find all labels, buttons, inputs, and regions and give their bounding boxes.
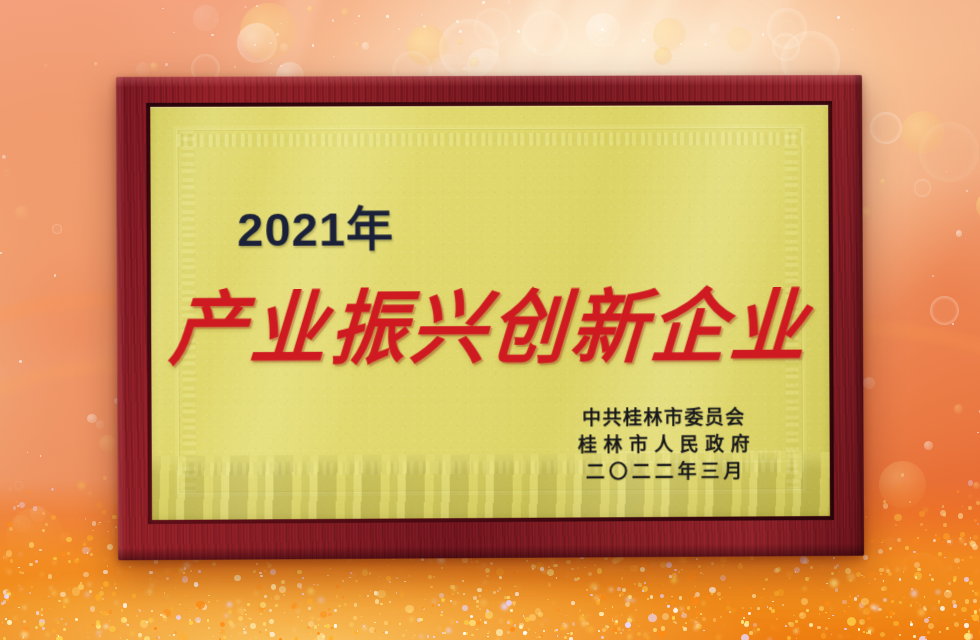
glitter-dot [218, 620, 219, 621]
glitter-dot [713, 618, 717, 622]
glitter-dot [910, 621, 911, 622]
glitter-dot [528, 628, 530, 630]
glitter-dot [719, 598, 721, 600]
glitter-dot [840, 636, 841, 637]
sparkle-dot [40, 455, 42, 457]
sparkle-dot [211, 34, 213, 36]
glitter-dot [9, 488, 11, 490]
glitter-dot [53, 561, 56, 564]
glitter-dot [496, 568, 504, 576]
glitter-dot [557, 609, 560, 612]
glitter-dot [798, 574, 799, 575]
glitter-dot [169, 563, 170, 564]
glitter-dot [704, 594, 711, 601]
glitter-dot [809, 577, 810, 578]
glitter-dot [148, 618, 153, 623]
glitter-dot [80, 582, 82, 584]
glitter-dot [321, 581, 323, 583]
glitter-dot [290, 620, 291, 621]
glitter-dot [942, 505, 945, 508]
glitter-dot [799, 612, 806, 619]
glitter-dot [109, 620, 110, 621]
glitter-dot [628, 635, 631, 638]
glitter-dot [517, 571, 518, 572]
glitter-dot [148, 589, 152, 593]
glitter-dot [720, 556, 727, 563]
glitter-dot [441, 611, 443, 613]
sparkle-dot [276, 33, 279, 36]
plate-content: 2021年 产业振兴创新企业 中共桂林市委员会 桂林市人民政府 二〇二二年三月 [150, 105, 830, 520]
glitter-dot [97, 503, 102, 508]
glitter-dot [369, 572, 371, 574]
glitter-dot [456, 621, 458, 623]
glitter-dot [223, 636, 226, 639]
glitter-dot [318, 597, 324, 603]
glitter-dot [587, 626, 594, 633]
glitter-dot [903, 560, 909, 566]
glitter-dot [359, 595, 360, 596]
glitter-dot [127, 624, 129, 626]
glitter-dot [433, 576, 435, 578]
glitter-dot [555, 564, 558, 567]
glitter-dot [911, 588, 913, 590]
glitter-dot [446, 628, 451, 633]
glitter-dot [52, 488, 53, 489]
glitter-dot [644, 633, 647, 636]
glitter-dot [198, 570, 201, 573]
glitter-dot [7, 620, 12, 625]
glitter-dot [871, 605, 874, 608]
glitter-dot [471, 561, 473, 563]
glitter-dot [795, 620, 797, 622]
gold-plate: 2021年 产业振兴创新企业 中共桂林市委员会 桂林市人民政府 二〇二二年三月 [150, 105, 830, 520]
glitter-dot [671, 596, 672, 597]
glitter-dot [354, 603, 357, 606]
glitter-dot [244, 609, 245, 610]
glitter-dot [101, 587, 103, 589]
sparkle-dot [642, 39, 645, 42]
glitter-dot [234, 598, 236, 600]
glitter-dot [41, 608, 44, 611]
glitter-dot [830, 608, 831, 609]
glitter-dot [29, 592, 31, 594]
glitter-dot [114, 583, 116, 585]
glitter-dot [485, 568, 490, 573]
glitter-dot [4, 594, 9, 599]
glitter-dot [587, 615, 589, 617]
glitter-dot [741, 634, 749, 640]
glitter-dot [847, 573, 855, 581]
glitter-dot [696, 558, 698, 560]
glitter-dot [265, 629, 267, 631]
sparkle-dot [173, 32, 174, 33]
glitter-dot [527, 632, 528, 633]
glitter-dot [928, 623, 934, 629]
sparkle-dot [541, 7, 542, 8]
glitter-dot [318, 624, 319, 625]
glitter-dot [851, 599, 853, 601]
glitter-dot [85, 592, 90, 597]
glitter-dot [579, 609, 581, 611]
glitter-dot [107, 531, 108, 532]
glitter-dot [716, 559, 718, 561]
glitter-dot [297, 616, 298, 617]
glitter-dot [92, 624, 94, 626]
glitter-dot [194, 582, 198, 586]
glitter-dot [690, 619, 691, 620]
glitter-dot [396, 577, 397, 578]
glitter-dot [517, 636, 518, 637]
glitter-dot [311, 617, 313, 619]
glitter-dot [227, 602, 232, 607]
glitter-dot [33, 506, 37, 510]
glitter-dot [628, 595, 632, 599]
glitter-dot [694, 595, 697, 598]
glitter-dot [961, 607, 966, 612]
glitter-dot [567, 575, 569, 577]
glitter-dot [273, 629, 276, 632]
glitter-dot [174, 631, 177, 634]
glitter-dot [669, 635, 670, 636]
glitter-dot [978, 620, 979, 621]
glitter-dot [577, 560, 578, 561]
glitter-dot [916, 602, 917, 603]
glitter-dot [269, 609, 272, 612]
glitter-dot [969, 581, 973, 585]
glitter-dot [935, 536, 941, 542]
glitter-dot [869, 571, 875, 577]
glitter-dot [314, 625, 317, 628]
glitter-dot [424, 599, 425, 600]
glitter-dot [17, 554, 19, 556]
glitter-dot [628, 629, 631, 632]
glitter-dot [45, 523, 47, 525]
glitter-dot [331, 627, 332, 628]
glitter-dot [49, 608, 50, 609]
glitter-dot [637, 632, 641, 636]
glitter-dot [882, 612, 883, 613]
glitter-dot [185, 609, 186, 610]
glitter-dot [631, 608, 634, 611]
glitter-dot [107, 544, 113, 550]
glitter-dot [394, 611, 395, 612]
glitter-dot [899, 628, 900, 629]
glitter-dot [702, 602, 705, 605]
glitter-dot [543, 630, 544, 631]
glitter-dot [944, 590, 952, 598]
award-plaque-scene: 2021年 产业振兴创新企业 中共桂林市委员会 桂林市人民政府 二〇二二年三月 [0, 0, 980, 640]
glitter-dot [898, 615, 900, 617]
glitter-dot [234, 575, 240, 581]
glitter-dot [696, 617, 697, 618]
glitter-dot [675, 622, 677, 624]
glitter-dot [844, 628, 847, 631]
glitter-dot [917, 568, 921, 572]
glitter-dot [61, 618, 63, 620]
glitter-dot [462, 605, 467, 610]
glitter-dot [964, 619, 966, 621]
glitter-dot [476, 605, 479, 608]
glitter-dot [434, 562, 437, 565]
glitter-dot [644, 582, 646, 584]
glitter-dot [939, 631, 941, 633]
glitter-dot [442, 632, 444, 634]
glitter-dot [571, 601, 575, 605]
glitter-dot [266, 633, 270, 637]
glitter-dot [777, 589, 783, 595]
glitter-dot [896, 568, 899, 571]
glitter-dot [510, 609, 513, 612]
glitter-dot [666, 602, 667, 603]
glitter-dot [19, 553, 22, 556]
glitter-dot [606, 637, 607, 638]
glitter-dot [390, 622, 391, 623]
glitter-dot [46, 633, 49, 636]
glitter-dot [598, 630, 600, 632]
glitter-dot [928, 583, 931, 586]
glitter-dot [481, 613, 482, 614]
glitter-dot [863, 576, 864, 577]
glitter-dot [349, 622, 354, 627]
glitter-dot [189, 621, 193, 625]
glitter-dot [10, 559, 13, 562]
glitter-dot [141, 589, 143, 591]
glitter-dot [109, 570, 111, 572]
glitter-dot [22, 572, 23, 573]
glitter-dot [973, 599, 976, 602]
glitter-dot [297, 570, 301, 574]
glitter-dot [671, 609, 673, 611]
glitter-dot [433, 636, 435, 638]
glitter-dot [577, 567, 580, 570]
glitter-dot [920, 523, 923, 526]
glitter-dot [582, 614, 584, 616]
glitter-dot [225, 614, 228, 617]
glitter-dot [831, 572, 834, 575]
glitter-dot [7, 590, 10, 593]
glitter-dot [803, 587, 806, 590]
glitter-dot [638, 625, 640, 627]
glitter-dot [479, 595, 481, 597]
glitter-dot [64, 598, 69, 603]
glitter-dot [9, 527, 13, 531]
glitter-dot [310, 606, 311, 607]
glitter-dot [31, 586, 33, 588]
glitter-dot [97, 631, 100, 634]
sparkle-dot [599, 39, 601, 41]
glitter-dot [883, 580, 884, 581]
glitter-dot [284, 612, 286, 614]
glitter-dot [860, 566, 861, 567]
glitter-dot [176, 615, 181, 620]
glitter-dot [962, 506, 963, 507]
glitter-dot [58, 635, 59, 636]
glitter-dot [617, 587, 620, 590]
glitter-dot [2, 622, 4, 624]
glitter-dot [628, 616, 633, 621]
glitter-dot [948, 582, 951, 585]
glitter-dot [115, 601, 118, 604]
glitter-dot [861, 598, 868, 605]
glitter-dot [375, 599, 379, 603]
glitter-dot [964, 623, 968, 627]
glitter-dot [107, 565, 109, 567]
glitter-dot [919, 604, 921, 606]
glitter-dot [104, 625, 108, 629]
glitter-dot [92, 521, 96, 525]
glitter-dot [141, 620, 144, 623]
glitter-dot [8, 570, 12, 574]
glitter-dot [686, 573, 695, 582]
glitter-dot [943, 533, 950, 540]
glitter-dot [473, 596, 477, 600]
glitter-dot [702, 617, 706, 621]
glitter-dot [938, 552, 942, 556]
glitter-dot [245, 614, 246, 615]
glitter-dot [638, 582, 640, 584]
award-plaque: 2021年 产业振兴创新企业 中共桂林市委员会 桂林市人民政府 二〇二二年三月 [116, 75, 864, 560]
glitter-dot [68, 552, 70, 554]
glitter-dot [419, 618, 422, 621]
glitter-dot [3, 600, 6, 603]
glitter-dot [673, 608, 678, 613]
glitter-dot [722, 597, 723, 598]
glitter-dot [878, 549, 883, 554]
glitter-dot [680, 607, 683, 610]
glitter-dot [667, 605, 670, 608]
glitter-dot [606, 628, 608, 630]
glitter-dot [175, 587, 176, 588]
glitter-dot [666, 562, 672, 568]
sparkle-dot [27, 452, 28, 453]
glitter-dot [619, 594, 621, 596]
glitter-dot [274, 595, 279, 600]
glitter-dot [238, 616, 243, 621]
glitter-dot [938, 601, 940, 603]
glitter-dot [136, 615, 139, 618]
glitter-dot [231, 636, 232, 637]
glitter-dot [847, 617, 856, 626]
glitter-dot [35, 626, 38, 629]
glitter-dot [284, 628, 285, 629]
glitter-dot [471, 585, 472, 586]
glitter-dot [243, 631, 247, 635]
glitter-dot [7, 522, 12, 527]
glitter-dot [455, 596, 457, 598]
glitter-dot [254, 591, 258, 595]
sparkle-dot [280, 65, 281, 66]
glitter-dot [149, 594, 150, 595]
glitter-dot [716, 635, 721, 640]
glitter-dot [139, 610, 141, 612]
glitter-dot [917, 553, 918, 554]
glitter-dot [486, 609, 489, 612]
glitter-dot [228, 620, 233, 625]
glitter-dot [493, 603, 495, 605]
glitter-dot [231, 616, 233, 618]
glitter-dot [762, 598, 764, 600]
glitter-dot [250, 623, 256, 629]
glitter-dot [328, 613, 331, 616]
glitter-dot [899, 601, 902, 604]
glitter-dot [703, 573, 704, 574]
glitter-dot [331, 609, 333, 611]
glitter-dot [686, 569, 688, 571]
glitter-dot [510, 627, 515, 632]
glitter-dot [275, 604, 278, 607]
glitter-dot [863, 631, 865, 633]
glitter-dot [868, 628, 873, 633]
glitter-dot [547, 569, 554, 576]
glitter-dot [196, 607, 198, 609]
glitter-dot [847, 635, 849, 637]
glitter-dot [267, 563, 272, 568]
glitter-dot [927, 631, 930, 634]
glitter-dot [423, 638, 425, 640]
sparkle-dot [704, 43, 707, 46]
glitter-dot [671, 600, 676, 605]
glitter-dot [451, 620, 455, 624]
glitter-dot [302, 593, 304, 595]
glitter-dot [931, 578, 934, 581]
glitter-dot [361, 616, 362, 617]
glitter-dot [681, 613, 687, 619]
glitter-dot [552, 560, 555, 563]
glitter-dot [266, 562, 268, 564]
glitter-dot [940, 606, 945, 611]
glitter-dot [216, 600, 219, 603]
glitter-dot [881, 587, 884, 590]
glitter-dot [117, 567, 119, 569]
glitter-dot [943, 513, 947, 517]
glitter-dot [334, 609, 337, 612]
glitter-dot [776, 618, 779, 621]
glitter-dot [871, 633, 873, 635]
sparkle-dot [417, 23, 418, 24]
glitter-dot [317, 632, 320, 635]
sparkle-dot [280, 23, 281, 24]
glitter-dot [796, 638, 797, 639]
glitter-dot [541, 635, 543, 637]
glitter-dot [943, 523, 947, 527]
glitter-dot [976, 571, 977, 572]
glitter-dot [831, 634, 833, 636]
glitter-dot [109, 610, 113, 614]
glitter-dot [166, 570, 169, 573]
glitter-dot [557, 635, 558, 636]
glitter-dot [650, 595, 653, 598]
glitter-dot [893, 621, 899, 627]
glitter-dot [452, 593, 454, 595]
glitter-dot [976, 591, 980, 595]
glitter-dot [607, 626, 609, 628]
glitter-dot [379, 613, 381, 615]
glitter-dot [131, 579, 133, 581]
glitter-dot [102, 611, 108, 617]
glitter-dot [103, 476, 107, 480]
glitter-dot [599, 612, 603, 616]
glitter-dot [683, 627, 687, 631]
glitter-dot [490, 567, 491, 568]
glitter-dot [749, 587, 752, 590]
glitter-dot [854, 597, 858, 601]
glitter-dot [23, 606, 26, 609]
glitter-dot [881, 542, 882, 543]
glitter-dot [357, 630, 359, 632]
glitter-dot [942, 541, 943, 542]
glitter-dot [883, 503, 889, 509]
glitter-dot [771, 597, 773, 599]
